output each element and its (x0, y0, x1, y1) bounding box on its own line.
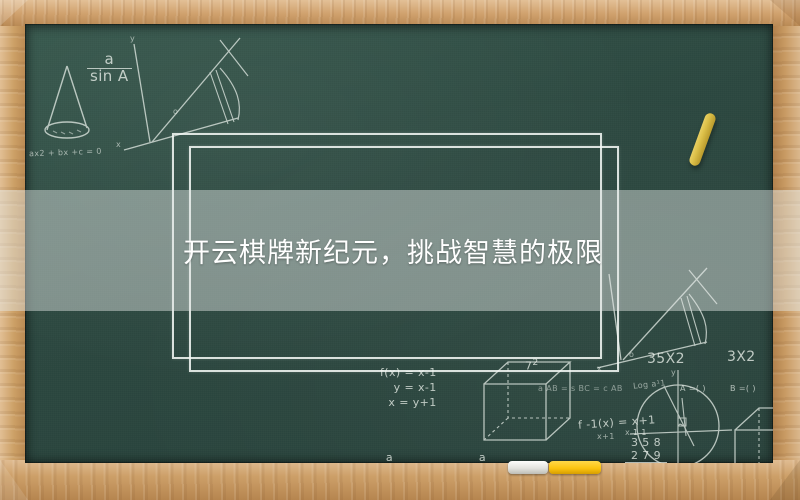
wood-corner-bottom-right (770, 460, 800, 500)
cube-diagram-right (725, 394, 773, 463)
function-definitions: f(x) = x-1 y = x-1 x = y+1 (380, 366, 437, 411)
angle-label-right: o (629, 350, 634, 359)
addition-problem: 1 1 3 5 8 2 7 9 6 3 7 (625, 428, 667, 463)
function-line-2: y = x-1 (380, 381, 437, 396)
fraction-left-numerator: a (372, 452, 407, 463)
wood-frame-bottom (0, 460, 800, 500)
expression-x-plus-1: x+1 (597, 432, 615, 441)
fraction-a-over-sina-mid: a sin A (465, 452, 500, 463)
function-line-3: x = y+1 (380, 396, 437, 411)
wood-corner-top-left (0, 0, 28, 26)
addition-addend-2: 2 7 9 (625, 450, 667, 463)
wood-corner-top-right (770, 0, 800, 26)
floating-yellow-chalk-stick (688, 112, 717, 167)
label-3x2: 3X2 (727, 349, 756, 365)
axis-label-y-circle: y (671, 368, 676, 377)
fraction-a-over-sina-left: a sin A (372, 452, 407, 463)
white-chalk-stick (508, 461, 548, 474)
page-title: 开云棋牌新纪元，挑战智慧的极限 (0, 190, 800, 311)
yellow-chalk-stick (549, 461, 601, 474)
fraction-mid-numerator: a (465, 452, 500, 463)
angle-label-left: o (173, 107, 178, 116)
wood-corner-bottom-left (0, 460, 28, 500)
triangle-relation: a AB = s BC = c AB (538, 384, 623, 393)
axis-label-y-left: y (130, 34, 135, 43)
addition-addend-1: 3 5 8 (625, 437, 667, 450)
wood-frame-top (0, 0, 800, 26)
axis-label-x-left: x (116, 140, 121, 149)
chalkboard-banner: a sin A ax2 + bx +c = 0 y x o o (0, 0, 800, 500)
